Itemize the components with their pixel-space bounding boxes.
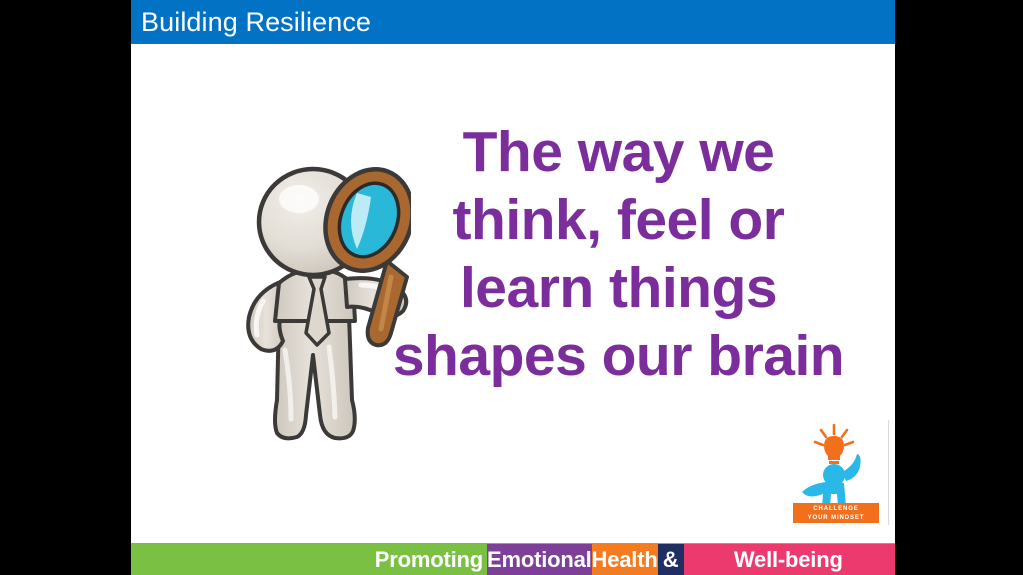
banner-label-ampersand: &: [663, 547, 679, 573]
banner-label-emotional: Emotional: [487, 547, 592, 573]
slide-title: Building Resilience: [141, 7, 371, 37]
strapline-banner: Promoting Emotional Health & Well-being: [131, 544, 895, 575]
logo-caption-line-1: CHALLENGE: [793, 505, 879, 514]
banner-segment-promoting: Promoting: [131, 544, 487, 575]
banner-segment-health: Health: [592, 544, 658, 575]
headline: The way we think, feel or learn things s…: [346, 118, 891, 390]
lightbulb-icon: [824, 436, 844, 460]
logo-caption: CHALLENGE YOUR MINDSET: [793, 503, 879, 523]
banner-label-promoting: Promoting: [375, 547, 483, 573]
banner-label-health: Health: [592, 547, 658, 573]
banner-segment-emotional: Emotional: [487, 544, 592, 575]
headline-line-2: think, feel or: [346, 186, 891, 254]
headline-line-1: The way we: [346, 118, 891, 186]
headline-line-4: shapes our brain: [346, 322, 891, 390]
presentation-slide: Building Resilience: [131, 0, 895, 575]
logo-divider: [888, 420, 889, 525]
headline-line-3: learn things: [346, 254, 891, 322]
logo-caption-line-2: YOUR MINDSET: [793, 514, 879, 523]
letterbox-left: [0, 0, 131, 575]
letterbox-right: [895, 0, 1023, 575]
screenshot-stage: Building Resilience: [0, 0, 1023, 575]
banner-segment-ampersand: &: [658, 544, 684, 575]
banner-segment-wellbeing: Well-being: [684, 544, 895, 575]
banner-label-wellbeing: Well-being: [734, 547, 843, 573]
challenge-your-mindset-logo: CHALLENGE YOUR MINDSET: [784, 420, 889, 525]
slide-title-bar: Building Resilience: [131, 0, 895, 44]
